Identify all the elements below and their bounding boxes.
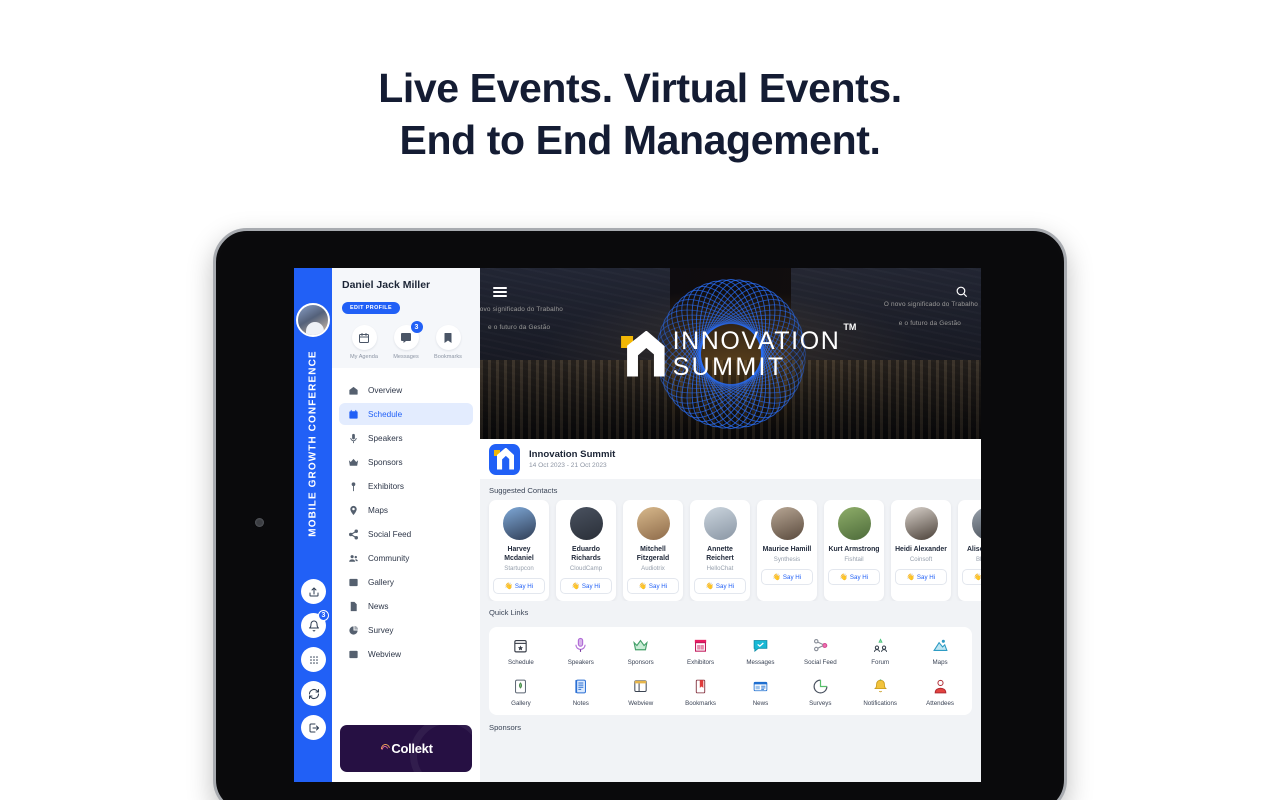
quick-link-label: Attendees <box>910 700 970 707</box>
headline-line-1: Live Events. Virtual Events. <box>378 65 902 111</box>
sidebar-item-label: Survey <box>368 626 393 635</box>
say-hi-button[interactable]: 👋Say Hi <box>694 578 746 594</box>
sidebar-item-sponsors[interactable]: Sponsors <box>339 451 473 473</box>
say-hi-label: Say Hi <box>716 583 734 590</box>
suggested-contacts-heading: Suggested Contacts <box>480 479 981 500</box>
quick-action-my-agenda[interactable]: My Agenda <box>344 325 384 360</box>
say-hi-button[interactable]: 👋Say Hi <box>895 569 947 585</box>
quick-link-label: Schedule <box>491 659 551 666</box>
say-hi-label: Say Hi <box>515 583 533 590</box>
window-icon <box>347 648 359 660</box>
sidebar-item-gallery[interactable]: Gallery <box>339 571 473 593</box>
sidebar-item-label: Schedule <box>368 410 402 419</box>
say-hi-button[interactable]: 👋Say Hi <box>627 578 679 594</box>
contact-name: Kurt Armstrong <box>828 545 880 554</box>
wave-icon: 👋 <box>572 582 580 590</box>
pie-chart-icon <box>790 676 850 696</box>
home-icon <box>347 384 359 396</box>
quick-links-heading: Quick Links <box>480 601 981 622</box>
calendar-icon <box>352 325 377 350</box>
contact-org: Startupcon <box>493 565 545 572</box>
collekt-promo-card[interactable]: Collekt <box>340 725 472 772</box>
sidebar-item-label: Overview <box>368 386 402 395</box>
quick-links-row-1: ScheduleSpeakersSponsorsExhibitorsMessag… <box>491 635 970 666</box>
wave-icon: 👋 <box>974 573 981 581</box>
innovation-summit-mark-icon <box>621 331 665 377</box>
logout-icon[interactable] <box>301 715 326 740</box>
contact-org: Coinsoft <box>895 556 947 563</box>
event-header: Innovation Summit 14 Oct 2023 - 21 Oct 2… <box>480 439 981 479</box>
crown-icon <box>347 456 359 468</box>
avatar[interactable] <box>296 303 330 337</box>
sidebar-item-label: Community <box>368 554 409 563</box>
collekt-arc-icon <box>379 742 390 755</box>
sidebar-item-survey[interactable]: Survey <box>339 619 473 641</box>
avatar <box>570 507 603 540</box>
calendar-icon <box>347 408 359 420</box>
calendar-star-icon <box>491 635 551 655</box>
quick-link-schedule[interactable]: Schedule <box>491 635 551 666</box>
contact-name: Alison Smith <box>962 545 981 554</box>
photo-icon <box>491 676 551 696</box>
event-hero-banner: novo significado do Trabalho e o futuro … <box>480 268 981 439</box>
profile-block: Daniel Jack Miller EDIT PROFILE My Agend… <box>332 268 480 368</box>
contact-name: Maurice Hamill <box>761 545 813 554</box>
quick-action-bookmarks[interactable]: Bookmarks <box>428 325 468 360</box>
page-root: Live Events. Virtual Events. End to End … <box>0 0 1280 800</box>
booth-icon <box>347 480 359 492</box>
contact-org: Fishtail <box>828 556 880 563</box>
contact-card[interactable]: Alison SmithBlue Sky👋Say Hi <box>958 500 981 601</box>
quick-link-speakers[interactable]: Speakers <box>551 635 611 666</box>
image-icon <box>347 576 359 588</box>
refresh-icon[interactable] <box>301 681 326 706</box>
sidebar-item-speakers[interactable]: Speakers <box>339 427 473 449</box>
mic-icon <box>347 432 359 444</box>
sidebar-item-community[interactable]: Community <box>339 547 473 569</box>
sidebar-item-label: Sponsors <box>368 458 403 467</box>
hamburger-icon[interactable] <box>493 287 507 297</box>
rail-tools: 3 <box>301 579 326 740</box>
browser-icon <box>611 676 671 696</box>
wave-icon: 👋 <box>773 573 781 581</box>
say-hi-button[interactable]: 👋Say Hi <box>962 569 981 585</box>
quick-links-row-2: GalleryNotesWebviewBookmarksNewsSurveysN… <box>491 676 970 707</box>
sidebar-item-label: Social Feed <box>368 530 411 539</box>
wave-icon: 👋 <box>907 573 915 581</box>
bell-badge: 3 <box>318 610 329 621</box>
quick-link-notes[interactable]: Notes <box>551 676 611 707</box>
sidebar-item-overview[interactable]: Overview <box>339 379 473 401</box>
contact-card[interactable]: Mitchell FitzgeraldAudiotrix👋Say Hi <box>623 500 683 601</box>
quick-link-sponsors[interactable]: Sponsors <box>611 635 671 666</box>
share-icon <box>347 528 359 540</box>
page-title: Live Events. Virtual Events. End to End … <box>0 62 1280 166</box>
quick-link-label: Messages <box>731 659 791 666</box>
chat-icon: 3 <box>394 325 419 350</box>
notebook-icon <box>551 676 611 696</box>
quick-action-label: My Agenda <box>344 354 384 360</box>
bookmark-icon <box>436 325 461 350</box>
headline-line-2: End to End Management. <box>0 114 1280 166</box>
share-icon[interactable] <box>301 579 326 604</box>
quick-link-social-feed[interactable]: Social Feed <box>790 635 850 666</box>
avatar <box>905 507 938 540</box>
profile-name: Daniel Jack Miller <box>342 279 470 291</box>
chat-bubble-icon <box>731 635 791 655</box>
avatar <box>637 507 670 540</box>
event-name: Innovation Summit <box>529 449 615 460</box>
wave-icon: 👋 <box>505 582 513 590</box>
hero-bg-text-right-2: e o futuro da Gestão <box>899 320 961 327</box>
contact-card[interactable]: Kurt ArmstrongFishtail👋Say Hi <box>824 500 884 601</box>
event-dates: 14 Oct 2023 - 21 Oct 2023 <box>529 462 615 469</box>
quick-link-label: Speakers <box>551 659 611 666</box>
person-icon <box>910 676 970 696</box>
say-hi-button[interactable]: 👋Say Hi <box>828 569 880 585</box>
piechart-icon <box>347 624 359 636</box>
contact-org: HelloChat <box>694 565 746 572</box>
avatar <box>771 507 804 540</box>
collekt-logo: Collekt <box>379 741 432 756</box>
quick-action-label: Bookmarks <box>428 354 468 360</box>
quick-link-label: Bookmarks <box>671 700 731 707</box>
event-app-icon <box>489 444 520 475</box>
quick-links-panel: ScheduleSpeakersSponsorsExhibitorsMessag… <box>489 627 972 715</box>
sidebar-item-label: Maps <box>368 506 388 515</box>
contact-name: Heidi Alexander <box>895 545 947 554</box>
sidebar-item-schedule[interactable]: Schedule <box>339 403 473 425</box>
say-hi-label: Say Hi <box>783 574 801 581</box>
grid-icon[interactable] <box>301 647 326 672</box>
contact-card[interactable]: Annette ReichertHelloChat👋Say Hi <box>690 500 750 601</box>
sidebar-item-label: Exhibitors <box>368 482 404 491</box>
people-icon <box>347 552 359 564</box>
say-hi-button[interactable]: 👋Say Hi <box>761 569 813 585</box>
say-hi-button[interactable]: 👋Say Hi <box>560 578 612 594</box>
crown-icon <box>611 635 671 655</box>
nav-list: Overview Schedule Speakers Sponsors <box>332 368 480 719</box>
quick-link-attendees[interactable]: Attendees <box>910 676 970 707</box>
hero-bg-text-left-2: e o futuro da Gestão <box>488 324 550 331</box>
search-icon[interactable] <box>955 285 968 303</box>
avatar <box>838 507 871 540</box>
quick-action-messages[interactable]: 3 Messages <box>386 325 426 360</box>
contact-name: Eduardo Richards <box>560 545 612 563</box>
quick-link-bookmarks[interactable]: Bookmarks <box>671 676 731 707</box>
bell-icon[interactable]: 3 <box>301 613 326 638</box>
quick-link-notifications[interactable]: Notifications <box>850 676 910 707</box>
quick-link-exhibitors[interactable]: Exhibitors <box>671 635 731 666</box>
contact-name: Annette Reichert <box>694 545 746 563</box>
contact-card[interactable]: Eduardo RichardsCloudCamp👋Say Hi <box>556 500 616 601</box>
avatar <box>972 507 982 540</box>
tablet-device: MOBILE GROWTH CONFERENCE 3 <box>213 228 1067 800</box>
say-hi-label: Say Hi <box>582 583 600 590</box>
quick-link-news[interactable]: News <box>731 676 791 707</box>
hero-bg-text-left-1: novo significado do Trabalho <box>480 306 563 313</box>
quick-link-surveys[interactable]: Surveys <box>790 676 850 707</box>
contact-card[interactable]: Maurice HamillSynthesis👋Say Hi <box>757 500 817 601</box>
wave-icon: 👋 <box>840 573 848 581</box>
share-node-icon <box>790 635 850 655</box>
quick-link-webview[interactable]: Webview <box>611 676 671 707</box>
bookmark-ribbon-icon <box>671 676 731 696</box>
messages-badge: 3 <box>411 321 423 333</box>
quick-link-label: Webview <box>611 700 671 707</box>
sidebar-item-label: Webview <box>368 650 401 659</box>
collekt-name: Collekt <box>391 741 432 756</box>
quick-link-label: Surveys <box>790 700 850 707</box>
sidebar-item-webview[interactable]: Webview <box>339 643 473 665</box>
quick-link-label: News <box>731 700 791 707</box>
say-hi-label: Say Hi <box>649 583 667 590</box>
sidebar-item-maps[interactable]: Maps <box>339 499 473 521</box>
contact-org: Blue Sky <box>962 556 981 563</box>
conference-title: MOBILE GROWTH CONFERENCE <box>308 337 319 551</box>
tablet-screen: MOBILE GROWTH CONFERENCE 3 <box>294 268 981 782</box>
say-hi-label: Say Hi <box>850 574 868 581</box>
app-rail: MOBILE GROWTH CONFERENCE 3 <box>294 268 332 782</box>
quick-link-forum[interactable]: Forum <box>850 635 910 666</box>
hero-title-line-1: INNOVATION <box>673 328 841 354</box>
say-hi-label: Say Hi <box>917 574 935 581</box>
hero-wordmark: INNOVATION SUMMIT TM <box>673 328 841 380</box>
document-icon <box>347 600 359 612</box>
edit-profile-button[interactable]: EDIT PROFILE <box>342 302 400 314</box>
sidebar: Daniel Jack Miller EDIT PROFILE My Agend… <box>332 268 480 782</box>
suggested-contacts-list[interactable]: Harvey McdanielStartupcon👋Say HiEduardo … <box>480 500 981 601</box>
trademark-symbol: TM <box>843 322 856 332</box>
quick-link-label: Notifications <box>850 700 910 707</box>
sidebar-item-label: Gallery <box>368 578 394 587</box>
hero-title-line-2: SUMMIT <box>673 354 841 380</box>
quick-link-label: Forum <box>850 659 910 666</box>
sidebar-item-social-feed[interactable]: Social Feed <box>339 523 473 545</box>
sidebar-item-label: Speakers <box>368 434 403 443</box>
quick-link-maps[interactable]: Maps <box>910 635 970 666</box>
pin-icon <box>347 504 359 516</box>
quick-link-messages[interactable]: Messages <box>731 635 791 666</box>
quick-link-label: Sponsors <box>611 659 671 666</box>
quick-link-label: Exhibitors <box>671 659 731 666</box>
forum-people-icon <box>850 635 910 655</box>
contact-org: Synthesis <box>761 556 813 563</box>
sidebar-item-news[interactable]: News <box>339 595 473 617</box>
sponsors-heading: Sponsors <box>480 715 981 732</box>
say-hi-button[interactable]: 👋Say Hi <box>493 578 545 594</box>
wave-icon: 👋 <box>706 582 714 590</box>
camera-dot <box>255 518 264 527</box>
contact-name: Mitchell Fitzgerald <box>627 545 679 563</box>
booth-icon <box>671 635 731 655</box>
avatar <box>704 507 737 540</box>
hero-logo: INNOVATION SUMMIT TM <box>621 328 841 380</box>
contact-card[interactable]: Heidi AlexanderCoinsoft👋Say Hi <box>891 500 951 601</box>
map-pin-icon <box>910 635 970 655</box>
contact-name: Harvey Mcdaniel <box>493 545 545 563</box>
quick-link-label: Social Feed <box>790 659 850 666</box>
quick-link-label: Notes <box>551 700 611 707</box>
newspaper-icon <box>731 676 791 696</box>
quick-action-label: Messages <box>386 354 426 360</box>
microphone-icon <box>551 635 611 655</box>
profile-quick-actions: My Agenda 3 Messages <box>342 325 470 360</box>
quick-link-gallery[interactable]: Gallery <box>491 676 551 707</box>
contact-card[interactable]: Harvey McdanielStartupcon👋Say Hi <box>489 500 549 601</box>
contact-org: CloudCamp <box>560 565 612 572</box>
avatar <box>503 507 536 540</box>
contact-org: Audiotrix <box>627 565 679 572</box>
bell-icon <box>850 676 910 696</box>
main-content: novo significado do Trabalho e o futuro … <box>480 268 981 782</box>
quick-link-label: Maps <box>910 659 970 666</box>
wave-icon: 👋 <box>639 582 647 590</box>
sidebar-item-exhibitors[interactable]: Exhibitors <box>339 475 473 497</box>
quick-link-label: Gallery <box>491 700 551 707</box>
sidebar-item-label: News <box>368 602 388 611</box>
